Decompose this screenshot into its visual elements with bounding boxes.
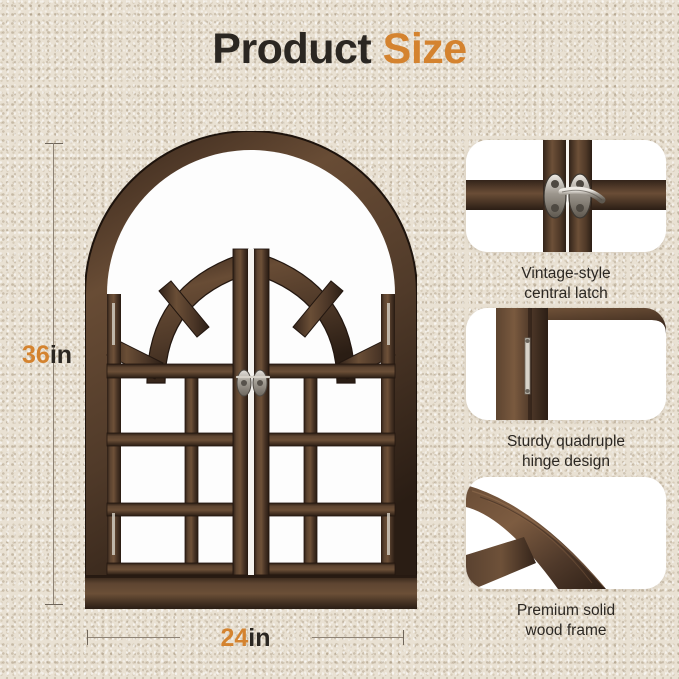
feature-quadruple-hinge: Sturdy quadruple hinge design	[466, 308, 666, 472]
width-unit: in	[248, 624, 270, 652]
feature-card-image-latch	[466, 140, 666, 252]
product-bottom-sill	[85, 575, 417, 609]
feature-card-image-wood	[466, 477, 666, 589]
feature-caption-wood: Premium solid wood frame	[466, 601, 666, 641]
product-image-arched-window-mirror	[85, 131, 417, 609]
height-dimension-label: 36in	[22, 341, 72, 370]
hinge-hardware	[525, 338, 530, 394]
feature-card-image-hinge	[466, 308, 666, 420]
feature-solid-wood: Premium solid wood frame	[466, 477, 666, 641]
page-title-primary: Product	[212, 25, 371, 73]
width-dimension-label: 24in	[0, 624, 491, 653]
feature-caption-hinge: Sturdy quadruple hinge design	[466, 432, 666, 472]
feature-caption-latch: Vintage-style central latch	[466, 264, 666, 304]
height-unit: in	[50, 341, 72, 369]
height-dimension-cap-bottom	[45, 604, 63, 605]
height-value: 36	[22, 341, 50, 369]
height-dimension-line	[53, 143, 54, 605]
feature-vintage-latch: Vintage-style central latch	[466, 140, 666, 304]
page-title: Product Size	[0, 28, 679, 71]
page-title-space	[371, 25, 382, 73]
product-center-stiles	[233, 249, 269, 575]
height-dimension-cap-top	[45, 143, 63, 144]
width-value: 24	[220, 624, 248, 652]
infographic-canvas: Product Size 36in 24in	[0, 0, 679, 679]
page-title-accent: Size	[383, 25, 467, 73]
